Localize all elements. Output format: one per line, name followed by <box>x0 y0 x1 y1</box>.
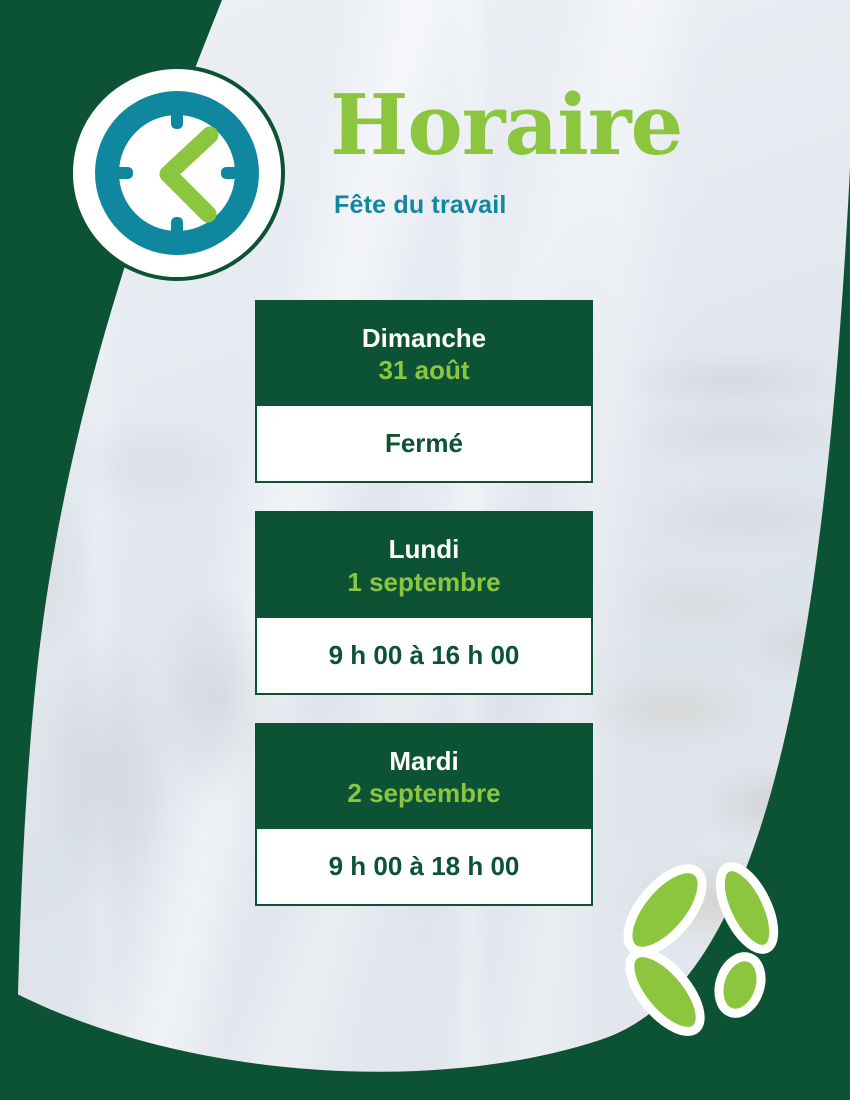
schedule-poster: Horaire Fête du travail Dimanche 31 août… <box>0 0 850 1100</box>
schedule-card: Mardi 2 septembre 9 h 00 à 18 h 00 <box>255 723 593 906</box>
schedule-card: Dimanche 31 août Fermé <box>255 300 593 483</box>
schedule-date-label: 2 septembre <box>265 777 583 809</box>
schedule-card-header: Lundi 1 septembre <box>255 511 593 617</box>
schedule-card-header: Mardi 2 septembre <box>255 723 593 829</box>
schedule-card-list: Dimanche 31 août Fermé Lundi 1 septembre… <box>255 300 593 934</box>
schedule-hours-value: Fermé <box>255 406 593 483</box>
page-subtitle: Fête du travail <box>334 191 790 220</box>
butterfly-logo-icon <box>612 855 802 1045</box>
schedule-date-label: 1 septembre <box>265 566 583 598</box>
schedule-hours-value: 9 h 00 à 18 h 00 <box>255 829 593 906</box>
clock-icon <box>68 64 286 282</box>
schedule-day-label: Lundi <box>265 533 583 565</box>
heading-block: Horaire Fête du travail <box>330 86 790 220</box>
page-title: Horaire <box>330 86 790 165</box>
schedule-day-label: Mardi <box>265 745 583 777</box>
schedule-card: Lundi 1 septembre 9 h 00 à 16 h 00 <box>255 511 593 694</box>
schedule-day-label: Dimanche <box>265 322 583 354</box>
schedule-date-label: 31 août <box>265 354 583 386</box>
schedule-hours-value: 9 h 00 à 16 h 00 <box>255 618 593 695</box>
schedule-card-header: Dimanche 31 août <box>255 300 593 406</box>
